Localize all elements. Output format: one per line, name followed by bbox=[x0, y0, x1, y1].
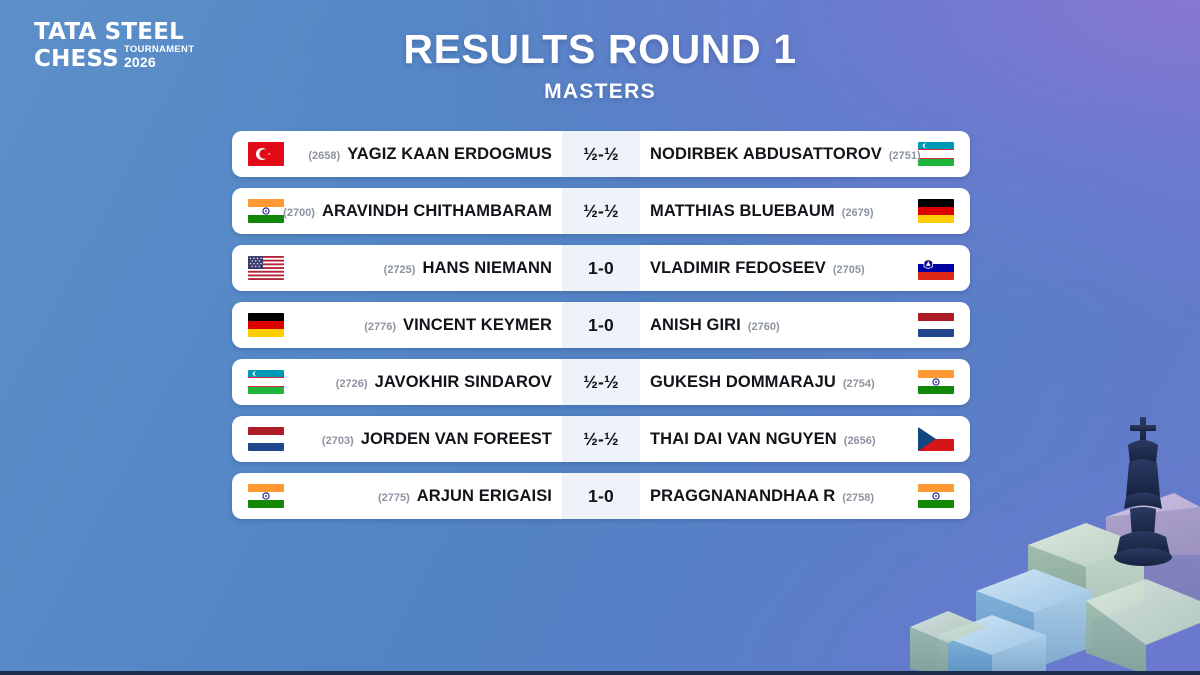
result-row[interactable]: (2703) JORDEN VAN FOREEST ½-½ THAI DAI V… bbox=[232, 416, 970, 462]
white-player-rating: (2726) bbox=[336, 378, 368, 390]
result-row[interactable]: (2658) YAGIZ KAAN ERDOGMUS ½-½ NODIRBEK … bbox=[232, 131, 970, 177]
result-row[interactable]: (2775) ARJUN ERIGAISI 1-0 PRAGGNANANDHAA… bbox=[232, 473, 970, 519]
white-player-name: VINCENT KEYMER bbox=[403, 316, 552, 335]
czechia-flag-icon bbox=[918, 427, 954, 451]
white-flag-cell bbox=[232, 313, 296, 337]
black-player: THAI DAI VAN NGUYEN (2656) bbox=[640, 430, 906, 449]
usa-flag-icon bbox=[248, 256, 284, 280]
match-score: ½-½ bbox=[562, 359, 640, 405]
match-score: 1-0 bbox=[562, 245, 640, 291]
black-flag-cell bbox=[906, 484, 970, 508]
uzbekistan-flag-icon bbox=[918, 142, 954, 166]
white-flag-cell bbox=[232, 427, 296, 451]
white-player: (2775) ARJUN ERIGAISI bbox=[296, 487, 562, 506]
white-player-name: ARAVINDH CHITHAMBARAM bbox=[322, 202, 552, 221]
white-player: (2725) HANS NIEMANN bbox=[296, 259, 562, 278]
white-player-name: JAVOKHIR SINDAROV bbox=[375, 373, 552, 392]
white-player-rating: (2725) bbox=[384, 264, 416, 276]
black-player-name: GUKESH DOMMARAJU bbox=[650, 373, 836, 392]
india-flag-icon bbox=[918, 370, 954, 394]
match-score: 1-0 bbox=[562, 473, 640, 519]
black-player: PRAGGNANANDHAA R (2758) bbox=[640, 487, 906, 506]
netherlands-flag-icon bbox=[918, 313, 954, 337]
white-player: (2703) JORDEN VAN FOREEST bbox=[296, 430, 562, 449]
match-score: 1-0 bbox=[562, 302, 640, 348]
india-flag-icon bbox=[248, 484, 284, 508]
white-player-name: YAGIZ KAAN ERDOGMUS bbox=[347, 145, 552, 164]
white-player-name: ARJUN ERIGAISI bbox=[417, 487, 552, 506]
page-title: RESULTS ROUND 1 bbox=[0, 26, 1200, 73]
black-flag-cell bbox=[906, 199, 970, 223]
black-player-name: NODIRBEK ABDUSATTOROV bbox=[650, 145, 882, 164]
match-score: ½-½ bbox=[562, 188, 640, 234]
black-player: ANISH GIRI (2760) bbox=[640, 316, 906, 335]
white-player-name: JORDEN VAN FOREEST bbox=[361, 430, 552, 449]
turkey-flag-icon bbox=[248, 142, 284, 166]
result-row[interactable]: (2725) HANS NIEMANN 1-0 VLADIMIR FEDOSEE… bbox=[232, 245, 970, 291]
black-player-rating: (2758) bbox=[842, 492, 874, 504]
white-player: (2658) YAGIZ KAAN ERDOGMUS bbox=[296, 145, 562, 164]
black-player-name: VLADIMIR FEDOSEEV bbox=[650, 259, 826, 278]
white-player: (2726) JAVOKHIR SINDAROV bbox=[296, 373, 562, 392]
match-score: ½-½ bbox=[562, 131, 640, 177]
black-flag-cell bbox=[906, 256, 970, 280]
white-flag-cell bbox=[232, 256, 296, 280]
netherlands-flag-icon bbox=[248, 427, 284, 451]
black-flag-cell bbox=[906, 427, 970, 451]
results-list: (2658) YAGIZ KAAN ERDOGMUS ½-½ NODIRBEK … bbox=[232, 131, 970, 519]
black-player: NODIRBEK ABDUSATTOROV (2751) bbox=[640, 145, 906, 164]
india-flag-icon bbox=[248, 199, 284, 223]
result-row[interactable]: (2726) JAVOKHIR SINDAROV ½-½ GUKESH DOMM… bbox=[232, 359, 970, 405]
black-flag-cell bbox=[906, 313, 970, 337]
white-flag-cell bbox=[232, 142, 296, 166]
black-player-rating: (2656) bbox=[844, 435, 876, 447]
results-slide: TATA STEEL CHESS TOURNAMENT 2026 RESULTS… bbox=[0, 0, 1200, 675]
black-player-name: PRAGGNANANDHAA R bbox=[650, 487, 835, 506]
black-player-rating: (2754) bbox=[843, 378, 875, 390]
white-player-rating: (2775) bbox=[378, 492, 410, 504]
germany-flag-icon bbox=[918, 199, 954, 223]
black-player: VLADIMIR FEDOSEEV (2705) bbox=[640, 259, 906, 278]
black-player-name: THAI DAI VAN NGUYEN bbox=[650, 430, 837, 449]
india-flag-icon bbox=[918, 484, 954, 508]
slovenia-flag-icon bbox=[918, 256, 954, 280]
white-player-rating: (2703) bbox=[322, 435, 354, 447]
germany-flag-icon bbox=[248, 313, 284, 337]
result-row[interactable]: (2700) ARAVINDH CHITHAMBARAM ½-½ MATTHIA… bbox=[232, 188, 970, 234]
white-flag-cell bbox=[232, 484, 296, 508]
white-player: (2700) ARAVINDH CHITHAMBARAM bbox=[296, 202, 562, 221]
uzbekistan-flag-icon bbox=[248, 370, 284, 394]
white-player-name: HANS NIEMANN bbox=[422, 259, 552, 278]
white-player-rating: (2776) bbox=[364, 321, 396, 333]
black-player-name: ANISH GIRI bbox=[650, 316, 741, 335]
match-score: ½-½ bbox=[562, 416, 640, 462]
black-flag-cell bbox=[906, 370, 970, 394]
black-player-rating: (2760) bbox=[748, 321, 780, 333]
black-player-rating: (2679) bbox=[842, 207, 874, 219]
page-title-block: RESULTS ROUND 1 MASTERS bbox=[0, 26, 1200, 104]
page-subtitle: MASTERS bbox=[0, 80, 1200, 104]
white-flag-cell bbox=[232, 370, 296, 394]
result-row[interactable]: (2776) VINCENT KEYMER 1-0 ANISH GIRI (27… bbox=[232, 302, 970, 348]
black-player-rating: (2705) bbox=[833, 264, 865, 276]
black-player-rating: (2751) bbox=[889, 150, 921, 162]
white-player: (2776) VINCENT KEYMER bbox=[296, 316, 562, 335]
black-player: GUKESH DOMMARAJU (2754) bbox=[640, 373, 906, 392]
black-player-name: MATTHIAS BLUEBAUM bbox=[650, 202, 835, 221]
white-player-rating: (2700) bbox=[283, 207, 315, 219]
white-player-rating: (2658) bbox=[308, 150, 340, 162]
black-player: MATTHIAS BLUEBAUM (2679) bbox=[640, 202, 906, 221]
